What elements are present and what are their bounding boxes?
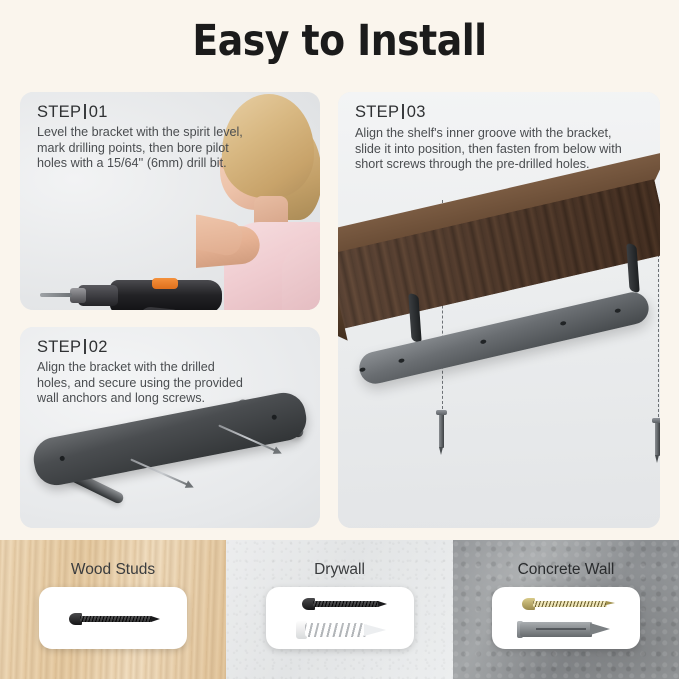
drill-orange-accent [152,278,178,289]
wall-type-row: Wood Studs Drywall [0,540,679,679]
step-02-heading: STEP02 [37,338,108,357]
wall-type-drywall: Drywall [226,540,453,679]
screw-shank [313,601,379,607]
wall-type-label-drywall: Drywall [226,561,453,579]
step-03-number: 03 [407,103,426,121]
anchor-body [520,622,592,637]
wall-type-label-concrete: Concrete Wall [453,561,679,579]
step-panel-01: STEP01 Level the bracket with the spirit… [20,92,320,310]
step-03-heading: STEP03 [355,103,426,122]
bracket-hole [560,321,567,326]
anchor-tip [364,624,386,636]
step-panel-02: STEP02 Align the bracket with the drille… [20,327,320,528]
hardware-card-wood [39,587,187,649]
short-screw-left [439,414,444,448]
wall-type-wood-studs: Wood Studs [0,540,226,679]
wall-type-label-wood: Wood Studs [0,561,226,579]
step-03-description: Align the shelf's inner groove with the … [355,126,622,173]
drill-bit [40,293,72,297]
anchor-tip [590,623,610,635]
step-divider-bar [84,339,86,354]
bracket-hole [480,339,487,344]
step-02-number: 02 [89,338,108,356]
anchor-threaded-body [305,623,367,637]
step-01-label: STEP [37,103,81,121]
step-01-description: Level the bracket with the spirit level,… [37,125,243,172]
screw-shank [80,616,152,622]
screw-tip [378,601,387,607]
white-drywall-anchor-icon [296,619,388,641]
shoulder [282,242,320,310]
screw-shank [533,601,607,606]
step-divider-bar [84,104,86,119]
black-wood-screw-icon [69,612,159,626]
hardware-card-concrete [492,587,640,649]
cordless-drill-icon [66,274,256,310]
step-panel-03: STEP03 Align the shelf's inner groove wi… [338,92,660,528]
gray-expansion-anchor-icon [520,619,616,639]
short-screw-right [655,422,660,456]
step-03-label: STEP [355,103,399,121]
page-title: Easy to Install [41,16,639,66]
bracket-hole [398,358,405,363]
hardware-card-drywall [266,587,414,649]
step-divider-bar [402,104,404,119]
step-02-description: Align the bracket with the drilled holes… [37,360,243,407]
infographic-page: Easy to Install [0,0,679,679]
wall-type-concrete-wall: Concrete Wall [453,540,679,679]
bracket-hole [359,367,366,372]
screw-tip [151,616,160,622]
bracket-hole [614,308,621,313]
step-01-heading: STEP01 [37,103,108,122]
step-01-number: 01 [89,103,108,121]
black-drywall-screw-icon [302,597,386,611]
drill-chuck [70,288,86,303]
screw-tip [606,601,615,605]
step-02-label: STEP [37,338,81,356]
gold-concrete-screw-icon [522,597,616,611]
